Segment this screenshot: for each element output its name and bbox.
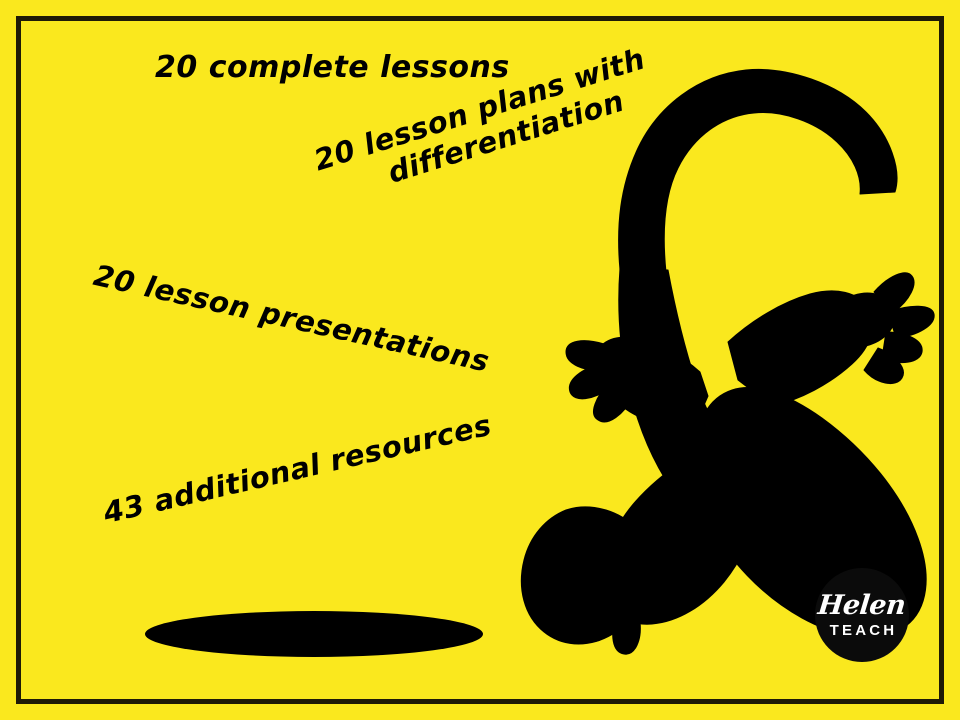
feature-lesson-presentations: 20 lesson presentations xyxy=(91,258,493,379)
brand-caps-teach: TEACH xyxy=(827,623,898,638)
feature-complete-lessons: 20 complete lessons xyxy=(155,50,510,85)
helen-teach-logo-badge[interactable]: Helen TEACH xyxy=(815,568,909,662)
slide-canvas: 20 complete lessons 20 lesson plans with… xyxy=(0,0,960,720)
brand-script-helen: Helen xyxy=(817,592,907,619)
feature-additional-resources: 43 additional resources xyxy=(100,408,495,531)
ground-shadow-ellipse xyxy=(145,611,483,657)
